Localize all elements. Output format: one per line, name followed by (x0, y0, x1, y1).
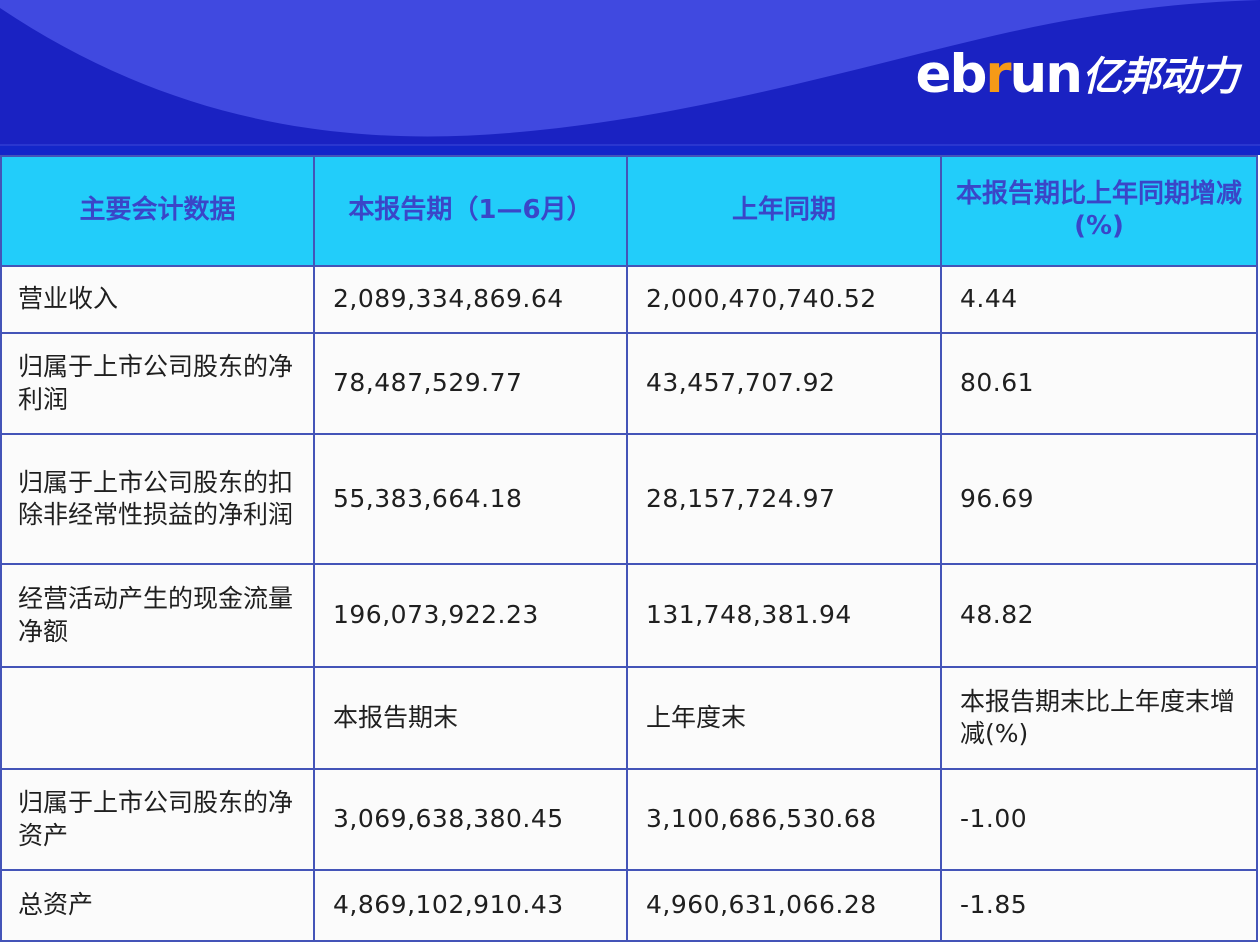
table-subheader-row: 本报告期末 上年度末 本报告期末比上年度末增减(%) (1, 667, 1257, 769)
table-row: 总资产 4,869,102,910.43 4,960,631,066.28 -1… (1, 870, 1257, 941)
row-label: 归属于上市公司股东的净利润 (1, 333, 314, 434)
row-value-change: -1.00 (941, 769, 1257, 870)
banner-bottom-strip (0, 146, 1260, 155)
row-label: 归属于上市公司股东的扣除非经常性损益的净利润 (1, 434, 314, 564)
logo-letter-b: b (949, 48, 985, 101)
row-label: 总资产 (1, 870, 314, 941)
row-value-current: 55,383,664.18 (314, 434, 627, 564)
row-value-previous: 4,960,631,066.28 (627, 870, 941, 941)
row-value-change: 96.69 (941, 434, 1257, 564)
table-row: 经营活动产生的现金流量净额 196,073,922.23 131,748,381… (1, 564, 1257, 667)
page-banner: ebrun亿邦动力 (0, 0, 1260, 155)
table-row: 归属于上市公司股东的扣除非经常性损益的净利润 55,383,664.18 28,… (1, 434, 1257, 564)
logo-letter-r: r (985, 48, 1009, 101)
subheader-change-vs-year-end: 本报告期末比上年度末增减(%) (941, 667, 1257, 769)
row-value-previous: 3,100,686,530.68 (627, 769, 941, 870)
row-label: 归属于上市公司股东的净资产 (1, 769, 314, 870)
row-value-change: -1.85 (941, 870, 1257, 941)
logo-letter-n: n (1045, 48, 1081, 101)
row-value-previous: 28,157,724.97 (627, 434, 941, 564)
row-value-current: 2,089,334,869.64 (314, 266, 627, 333)
column-header-change: 本报告期比上年同期增减(%) (941, 156, 1257, 266)
row-value-previous: 131,748,381.94 (627, 564, 941, 667)
column-header-previous: 上年同期 (627, 156, 941, 266)
row-value-current: 196,073,922.23 (314, 564, 627, 667)
row-value-change: 4.44 (941, 266, 1257, 333)
subheader-prior-year-end: 上年度末 (627, 667, 941, 769)
row-value-change: 48.82 (941, 564, 1257, 667)
table-row: 营业收入 2,089,334,869.64 2,000,470,740.52 4… (1, 266, 1257, 333)
column-header-current: 本报告期（1—6月） (314, 156, 627, 266)
row-label-empty (1, 667, 314, 769)
row-value-previous: 43,457,707.92 (627, 333, 941, 434)
row-value-current: 4,869,102,910.43 (314, 870, 627, 941)
table-row: 归属于上市公司股东的净资产 3,069,638,380.45 3,100,686… (1, 769, 1257, 870)
subheader-period-end: 本报告期末 (314, 667, 627, 769)
table-row: 归属于上市公司股东的净利润 78,487,529.77 43,457,707.9… (1, 333, 1257, 434)
row-value-change: 80.61 (941, 333, 1257, 434)
financial-summary-table: 主要会计数据 本报告期（1—6月） 上年同期 本报告期比上年同期增减(%) 营业… (0, 155, 1258, 942)
logo-letter-e: e (915, 48, 949, 101)
row-value-current: 3,069,638,380.45 (314, 769, 627, 870)
ebrun-logo: ebrun亿邦动力 (915, 48, 1238, 101)
row-label: 经营活动产生的现金流量净额 (1, 564, 314, 667)
financial-table-container: 主要会计数据 本报告期（1—6月） 上年同期 本报告期比上年同期增减(%) 营业… (0, 155, 1260, 942)
row-value-previous: 2,000,470,740.52 (627, 266, 941, 333)
logo-chinese-name: 亿邦动力 (1082, 57, 1238, 97)
column-header-metric: 主要会计数据 (1, 156, 314, 266)
row-label: 营业收入 (1, 266, 314, 333)
table-header-row: 主要会计数据 本报告期（1—6月） 上年同期 本报告期比上年同期增减(%) (1, 156, 1257, 266)
row-value-current: 78,487,529.77 (314, 333, 627, 434)
logo-letter-u: u (1010, 48, 1046, 101)
